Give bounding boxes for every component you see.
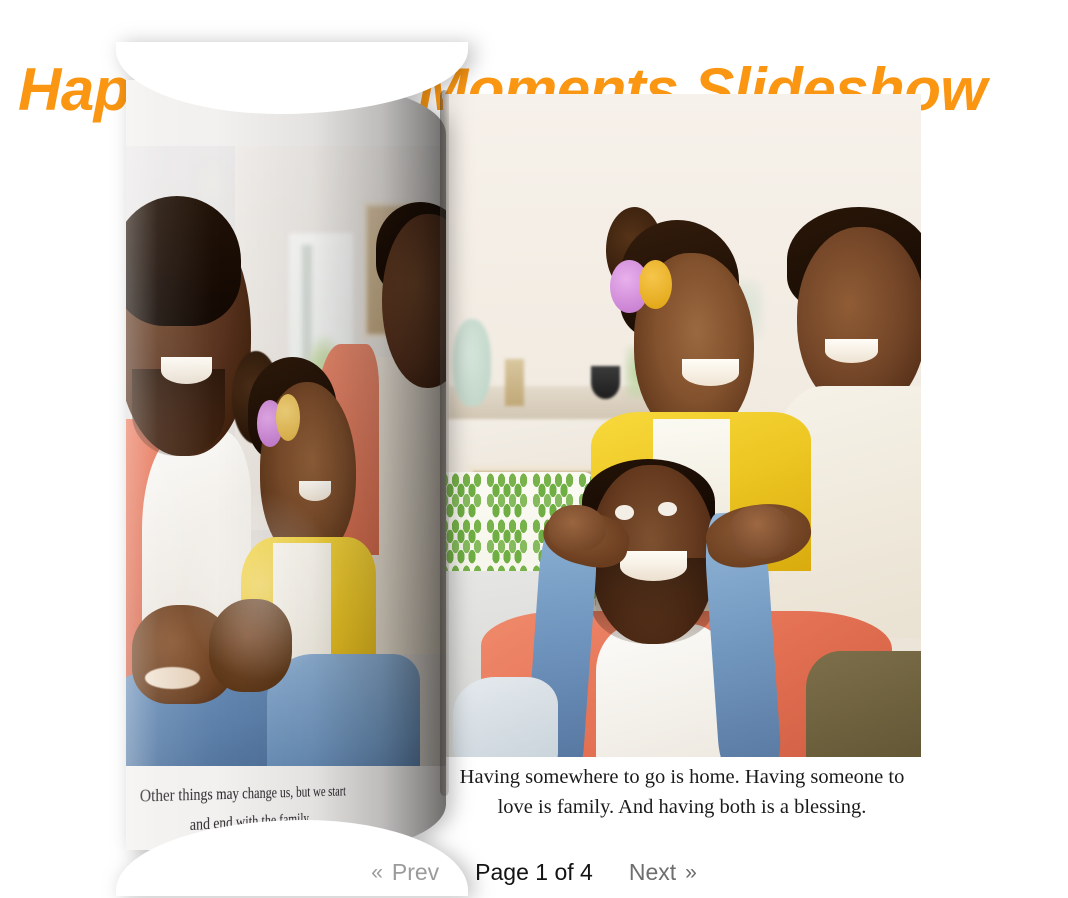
photo-layer-dark-bowl xyxy=(591,366,620,399)
slide-photo-right xyxy=(443,94,921,757)
slide-caption-right: Having somewhere to go is home. Having s… xyxy=(443,762,921,822)
photo-layer-girl-hand-left xyxy=(548,505,605,551)
double-chevron-left-icon: « xyxy=(371,862,383,883)
photo-artwork-right xyxy=(443,94,921,757)
slide-caption-left: Other things may change us, but we start… xyxy=(126,778,355,844)
photo-layer-ceiling-lamp xyxy=(190,158,232,201)
slideshow-app: Happy Family Moments Slideshow xyxy=(0,0,1068,898)
photo-layer-light-glow xyxy=(184,493,338,679)
photo-layer-yellow-hair-clip xyxy=(276,394,300,441)
photo-layer-wooden-jar xyxy=(505,359,524,405)
double-chevron-right-icon: » xyxy=(685,862,697,883)
curled-page-body: Other things may change us, but we start… xyxy=(126,80,446,850)
flipbook-stage: Having somewhere to go is home. Having s… xyxy=(0,0,1068,898)
prev-button[interactable]: « Prev xyxy=(361,856,449,888)
photo-layer-glass-vase xyxy=(453,319,491,405)
next-button[interactable]: Next » xyxy=(619,856,707,888)
prev-button-label: Prev xyxy=(392,858,439,886)
photo-layer-girl-smile xyxy=(682,359,739,386)
photo-layer-khaki-trousers xyxy=(806,651,921,757)
photo-artwork-left xyxy=(126,146,446,766)
photo-layer-mother-face xyxy=(797,227,921,413)
next-button-label: Next xyxy=(629,858,676,886)
slideshow-navigation: « Prev Page 1 of 4 Next » xyxy=(0,852,1068,892)
slide-photo-left xyxy=(126,146,446,766)
photo-layer-shoe xyxy=(453,677,558,757)
slide-page-left-curling[interactable]: Other things may change us, but we start… xyxy=(126,80,446,850)
photo-layer-girl-hand-right xyxy=(730,505,792,558)
photo-layer-father-smile xyxy=(620,551,687,580)
photo-layer-father-white-tee xyxy=(596,624,730,757)
photo-layer-father-eye-left xyxy=(615,505,634,520)
page-indicator: Page 1 of 4 xyxy=(449,858,619,886)
slide-page-right[interactable]: Having somewhere to go is home. Having s… xyxy=(443,94,921,844)
